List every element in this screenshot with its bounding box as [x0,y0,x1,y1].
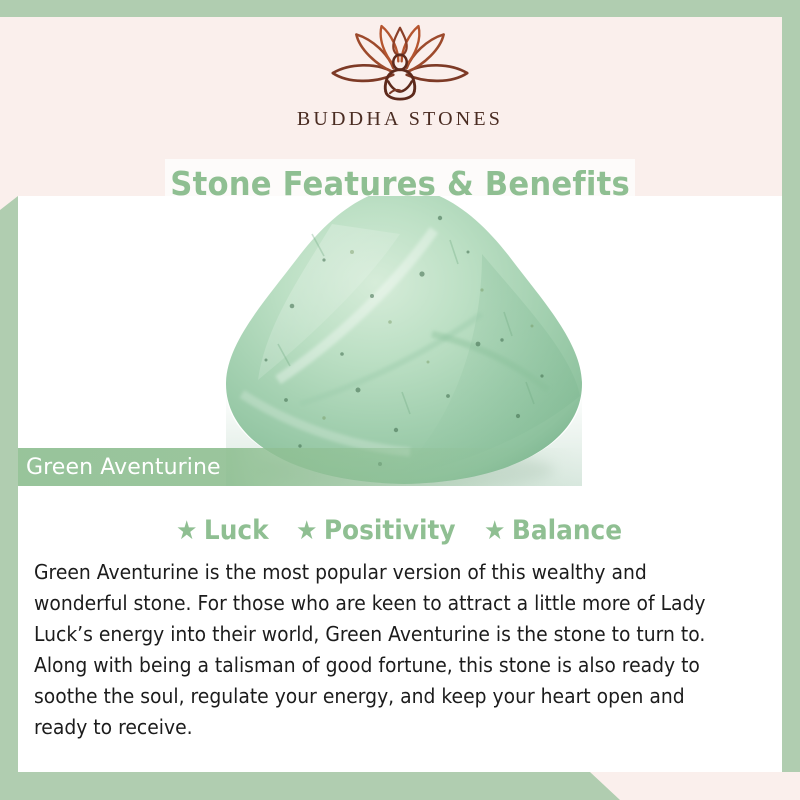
stone-description: Green Aventurine is the most popular ver… [34,557,713,743]
stone-name-band: Green Aventurine [18,448,578,486]
star-icon: ★ [484,518,505,544]
stone-photo [18,196,782,490]
keyword-luck: ★ Luck [176,515,269,546]
green-aventurine-stone-image [182,196,622,486]
keyword-positivity: ★ Positivity [295,515,455,546]
brand-logo: BUDDHA STONES [0,21,800,131]
keyword-label: Positivity [323,515,455,546]
frame-bar-top [0,0,800,17]
brand-name: BUDDHA STONES [297,108,503,131]
frame-bar-bottom [0,772,620,800]
keyword-balance: ★ Balance [484,515,622,546]
star-icon: ★ [176,518,197,544]
frame-bar-left [0,196,18,796]
lotus-meditation-figure-icon [316,21,484,105]
header: BUDDHA STONES Stone Features & Benefits [0,17,800,196]
keyword-label: Luck [204,515,269,546]
keyword-label: Balance [512,515,622,546]
stone-name-label: Green Aventurine [26,455,221,480]
keyword-row: ★ Luck ★ Positivity ★ Balance [18,515,782,546]
star-icon: ★ [295,518,316,544]
product-infographic: BUDDHA STONES Stone Features & Benefits [0,0,800,800]
